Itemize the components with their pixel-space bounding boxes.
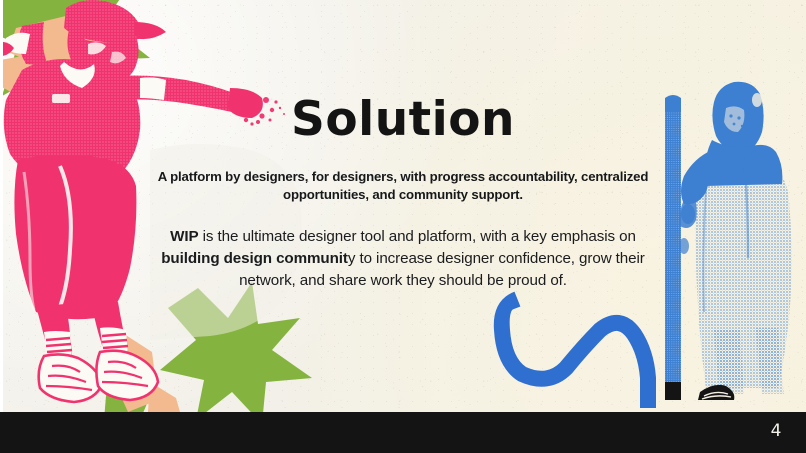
slide-canvas: Solution A platform by designers, for de…	[0, 0, 806, 453]
body-paragraph: WIP is the ultimate designer tool and pl…	[150, 226, 656, 291]
body-part-1: is the ultimate designer tool and platfo…	[199, 228, 636, 245]
body-lead-bold: WIP	[170, 228, 198, 245]
text-column: Solution A platform by designers, for de…	[150, 96, 656, 291]
footer-band	[0, 412, 806, 453]
page-number: 4	[771, 421, 782, 441]
page-title: Solution	[150, 96, 656, 144]
subheading: A platform by designers, for designers, …	[150, 168, 656, 204]
body-bold-2: building design communit	[161, 250, 348, 267]
